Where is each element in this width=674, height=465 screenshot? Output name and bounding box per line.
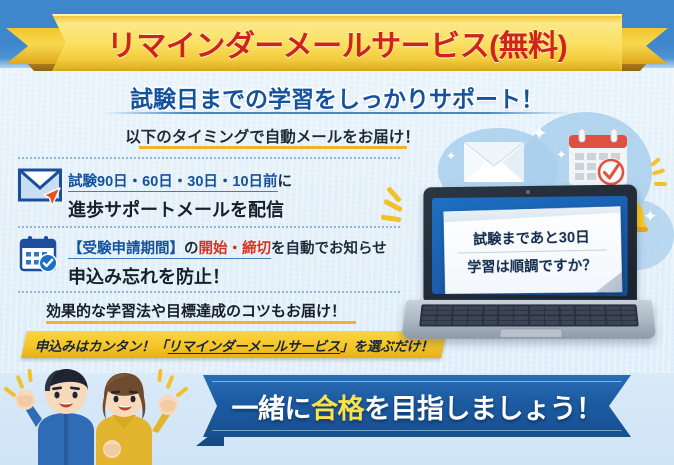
cta-quoted-service: リマインダーメールサービス [168, 335, 340, 355]
feature-2-line2: 申込み忘れを防止！ [68, 263, 387, 289]
feature-2-accent: 開始・締切 [199, 241, 272, 259]
keyboard-key [453, 311, 467, 315]
reminder-note-line2: 学習は順調ですか？ [467, 253, 597, 276]
reminder-note-card: 試験まであと30日 学習は順調ですか？ [443, 206, 622, 294]
calendar-check-icon [19, 235, 59, 273]
keyboard-key [483, 321, 497, 325]
closing-banner-text: 一緒に合格を目指しましょう！ [203, 375, 631, 437]
keyboard-key [560, 316, 574, 320]
keyboard-key [530, 306, 544, 310]
keyboard-key [514, 316, 528, 320]
keyboard-key [606, 311, 620, 315]
feature-2-emphasis: 【受験申請期間】 [68, 241, 184, 259]
keyboard-key [621, 306, 635, 310]
keyboard-key [607, 321, 621, 325]
keyboard-key [622, 321, 636, 325]
laptop-screen: 試験まであと30日 学習は順調ですか？ [432, 196, 628, 296]
laptop-camera-icon [526, 190, 530, 194]
cta-prefix: 申込みはカンタン！「 [35, 335, 168, 355]
keyboard-key [453, 316, 467, 320]
keyboard-key [468, 321, 482, 325]
keyboard-key [468, 311, 482, 315]
closing-part2: を目指しましょう！ [364, 387, 603, 426]
keyboard-key [591, 316, 605, 320]
envelope-illustration-icon [463, 140, 525, 184]
reminder-note-line1: 試験まであと30日 [473, 225, 590, 249]
keyboard-key [499, 321, 513, 325]
subheading-underline [103, 112, 571, 114]
keyboard-key [453, 306, 467, 310]
keyboard-key [452, 321, 466, 325]
extra-benefit-line: 効果的な学習法や目標達成のコツもお届け！ [46, 300, 346, 321]
keyboard-key [514, 311, 528, 315]
subheading: 試験日までの学習をしっかりサポート！ [0, 80, 674, 114]
keyboard-key [622, 316, 636, 320]
keyboard-key [422, 316, 436, 320]
keyboard-key [545, 311, 559, 315]
cursor-arrow-icon [40, 186, 62, 210]
person-male [15, 369, 94, 465]
keyboard-key [575, 306, 589, 310]
keyboard-key [437, 321, 451, 325]
keyboard-key [422, 311, 436, 315]
feature-1-line1: 試験90日・60日・30日・10日前に [68, 170, 292, 191]
tagline-underline [139, 146, 407, 149]
keyboard-key [545, 316, 559, 320]
banner-root: リマインダーメールサービス(無料) 試験日までの学習をしっかりサポート！ 以下の… [0, 0, 674, 465]
person-female [96, 373, 178, 465]
keyboard-key [469, 306, 483, 310]
feature-1-line2: 進歩サポートメールを配信 [68, 196, 292, 222]
closing-part1: 一緒に [232, 387, 312, 426]
keyboard-key [438, 306, 452, 310]
keyboard-key [576, 311, 590, 315]
keyboard-key [545, 306, 559, 310]
laptop-illustration: 試験まであと30日 学習は順調ですか？ [398, 186, 666, 346]
keyboard-key [530, 321, 544, 325]
feature-2-line1-suffix: を自動でお知らせ [271, 241, 387, 257]
feature-1-emphasis: 試験90日・60日・30日・10日前 [68, 174, 278, 192]
title-ribbon: リマインダーメールサービス(無料) [0, 6, 674, 72]
feature-2: 【受験申請期間】の開始・締切を自動でお知らせ 申込み忘れを防止！ [68, 237, 387, 289]
keyboard-key [560, 311, 574, 315]
keyboard-key [530, 311, 544, 315]
divider-middle [18, 226, 400, 228]
reminder-note-rule [458, 249, 607, 253]
keyboard-key [438, 311, 452, 315]
keyboard-key [560, 306, 574, 310]
closing-highlight: 合格 [311, 387, 364, 426]
divider-bottom [18, 291, 400, 293]
keyboard-key [423, 306, 437, 310]
keyboard-key [499, 316, 513, 320]
keyboard-key [530, 316, 544, 320]
laptop-trackpad [499, 328, 562, 338]
keyboard-key [591, 321, 605, 325]
keyboard-key [514, 321, 528, 325]
keyboard-key [499, 311, 513, 315]
divider-top [18, 157, 400, 159]
keyboard-key [606, 316, 620, 320]
keyboard-key [514, 306, 528, 310]
keyboard-key [484, 311, 498, 315]
laptop-lid: 試験まであと30日 学習は順調ですか？ [423, 185, 637, 304]
keyboard-key [576, 321, 590, 325]
keyboard-key [437, 316, 451, 320]
feature-2-line1-mid: の [184, 241, 199, 259]
keyboard-key [499, 306, 513, 310]
feature-1-line1-suffix: に [278, 174, 293, 190]
laptop-base [402, 300, 657, 339]
keyboard-key [484, 306, 498, 310]
keyboard-key [468, 316, 482, 320]
keyboard-key [545, 321, 559, 325]
keyboard-key [561, 321, 575, 325]
keyboard-key [484, 316, 498, 320]
keyboard-key [576, 316, 590, 320]
keyboard-key [591, 311, 605, 315]
keyboard-key [591, 306, 605, 310]
laptop-keyboard [419, 304, 639, 326]
feature-1: 試験90日・60日・30日・10日前に 進歩サポートメールを配信 [68, 170, 292, 222]
cheering-people-illustration [0, 353, 205, 465]
keyboard-key [606, 306, 620, 310]
keyboard-key [421, 321, 435, 325]
calendar-illustration-icon [566, 127, 630, 189]
ribbon-title-text: リマインダーメールサービス(無料) [52, 14, 622, 71]
keyboard-key [621, 311, 635, 315]
feature-2-line1: 【受験申請期間】の開始・締切を自動でお知らせ [68, 237, 387, 258]
extra-benefit-underline [46, 321, 356, 324]
